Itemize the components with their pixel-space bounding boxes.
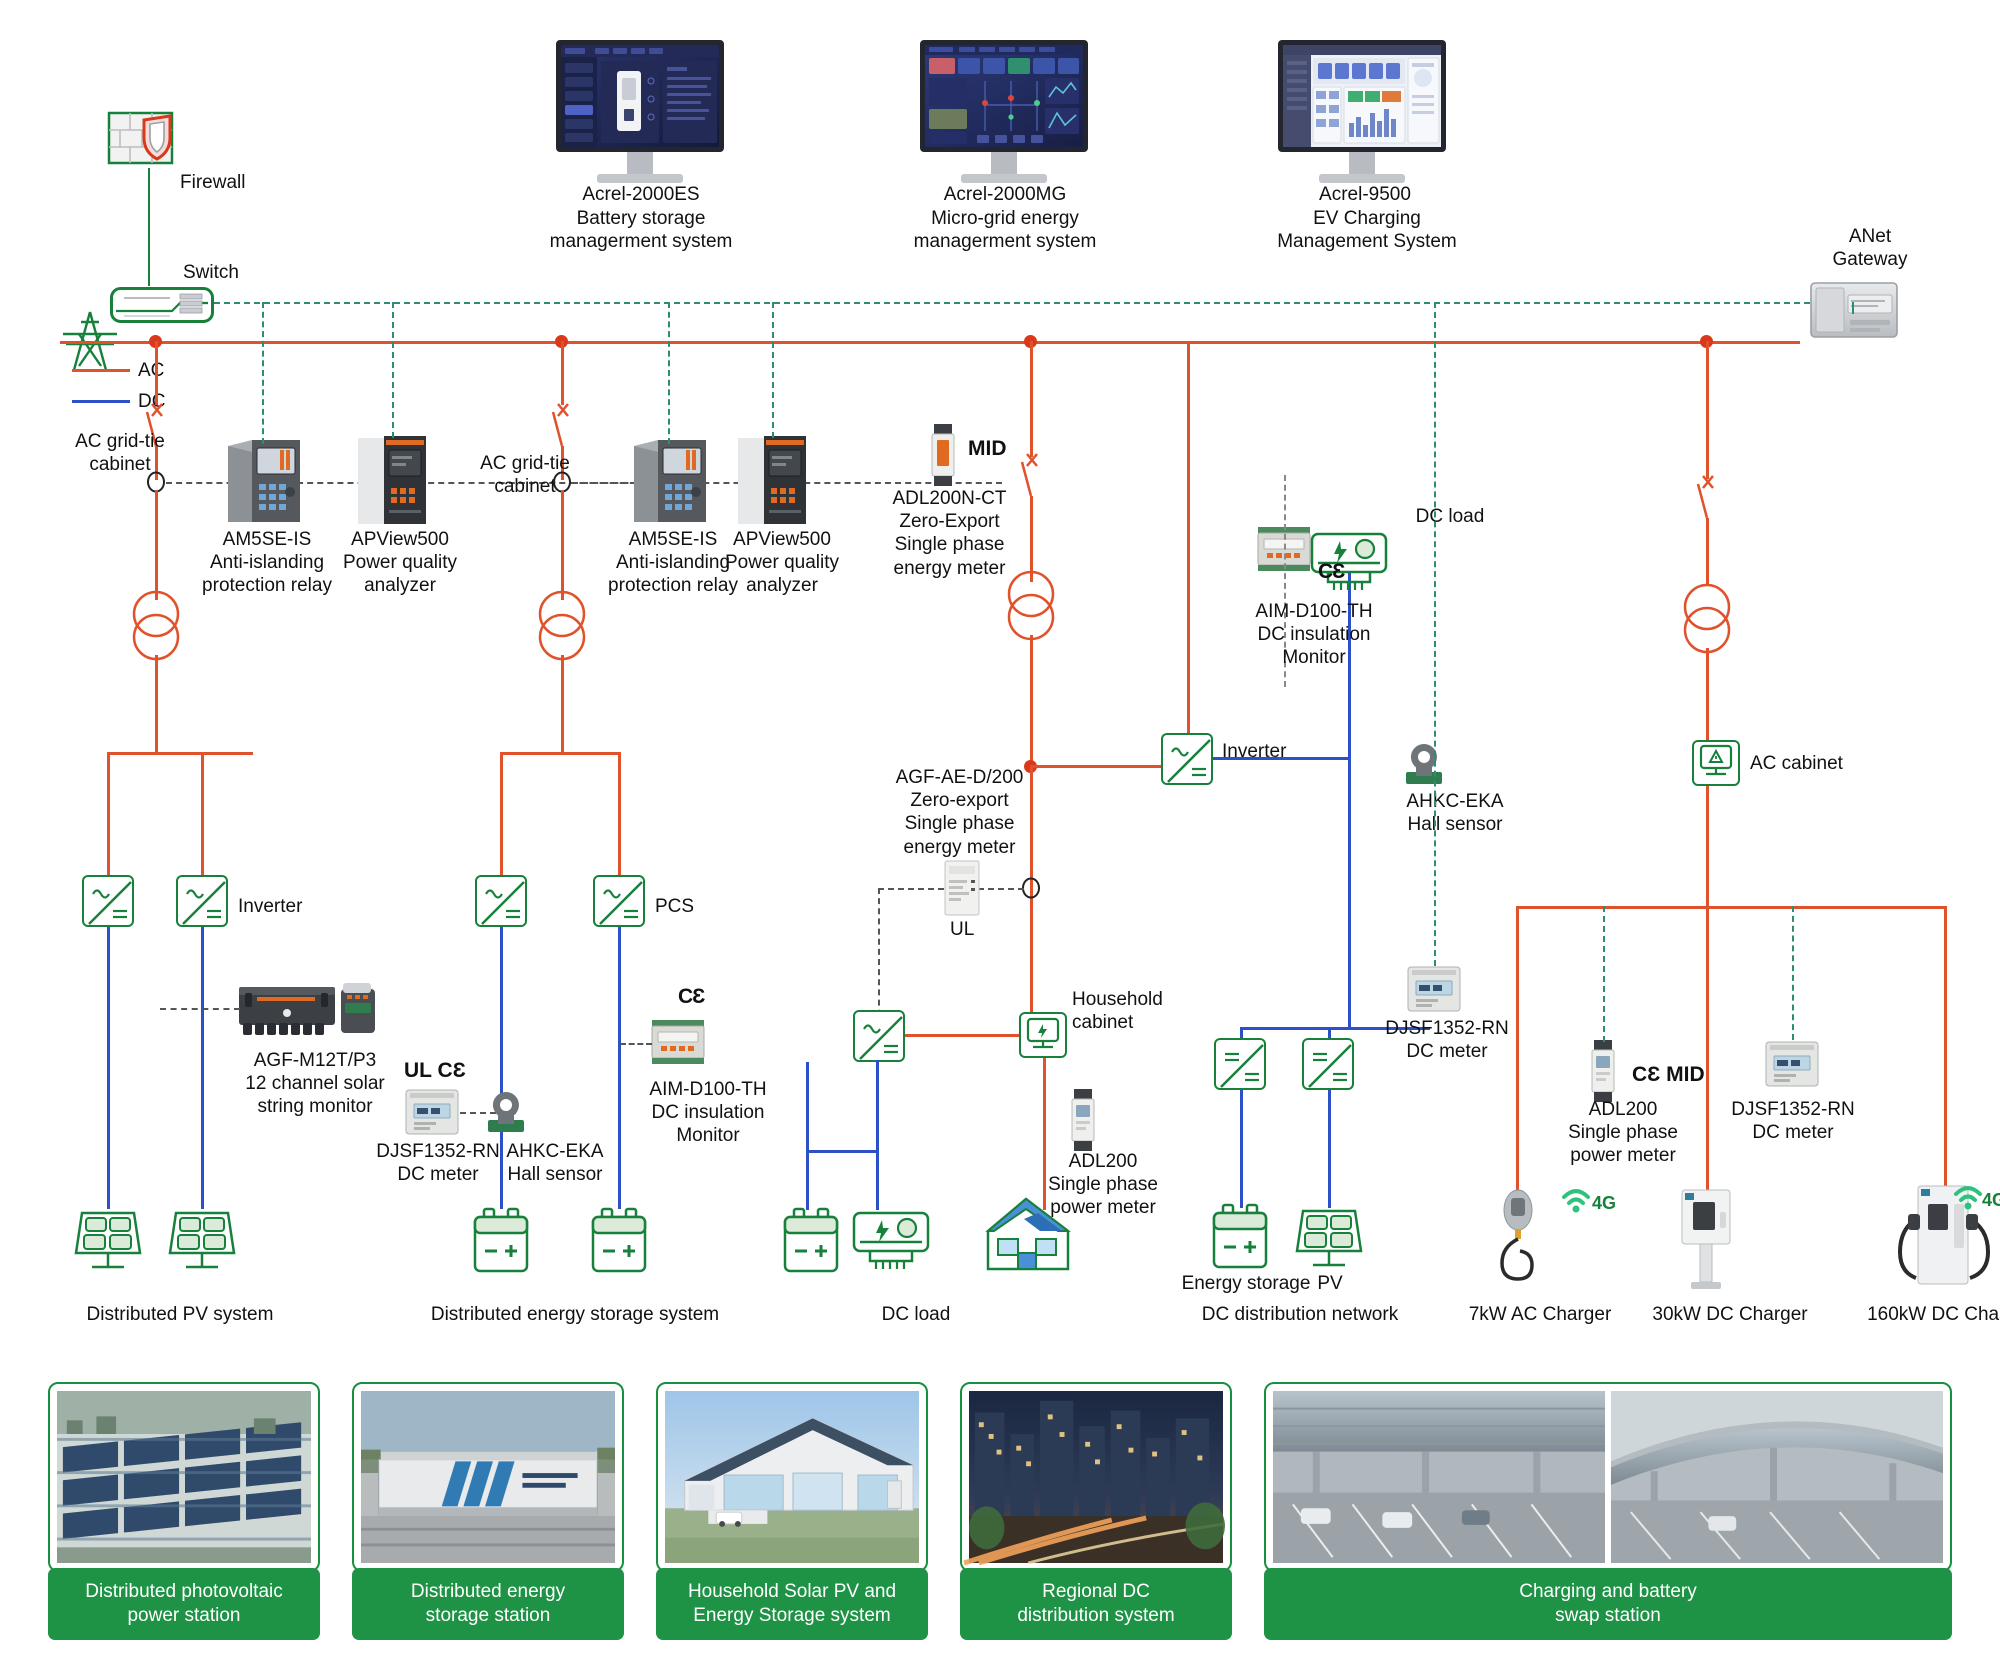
comm-trunk-line (214, 302, 1810, 304)
system-name-1: Acrel-2000MG (880, 183, 1130, 206)
charger-160kw-label: 160kW DC Charger (1840, 1303, 2000, 1326)
gallery-photo-0 (48, 1382, 320, 1572)
branch2-drop-d (561, 655, 564, 753)
apview500-1-label: APView500 Power quality analyzer (330, 528, 470, 598)
gallery-photo-2 (656, 1382, 928, 1572)
ac-bus-trunk (60, 341, 1800, 344)
adl200-ev-comm (1603, 906, 1605, 1042)
aim-d100-th-device-mid (650, 1018, 706, 1066)
inverter-left-label: Inverter (238, 895, 358, 918)
branch2-split-bus (500, 752, 620, 755)
charger-7kw-icon (1490, 1188, 1546, 1288)
djsf1352-rn-ev-label: DJSF1352-RN DC meter (1718, 1098, 1868, 1144)
pv2-dc-line (201, 927, 204, 1209)
agf-m12t-label: AGF-M12T/P3 12 channel solar string moni… (225, 1049, 405, 1119)
diagram-canvas: Firewall Switch ANet Gateway (0, 0, 2000, 1667)
firewall-switch-link (148, 168, 150, 286)
dcdist-dc-down (1348, 757, 1351, 1029)
system-desc-1: Micro-grid energy managerment system (850, 207, 1160, 253)
pv1-dc-line (107, 927, 110, 1209)
pv-system-label: Distributed PV system (50, 1303, 310, 1326)
household-cabinet-icon (1019, 1012, 1067, 1058)
ac-cabinet-icon (1692, 740, 1740, 786)
system-name-2: Acrel-9500 (1240, 183, 1490, 206)
am5se-is-1-label: AM5SE-IS Anti-islanding protection relay (192, 528, 342, 598)
breaker-2-icon (546, 400, 586, 458)
dcdc-pv-out (1328, 1090, 1331, 1208)
djsf-ev-comm (1792, 906, 1794, 1040)
dc-distribution-label: DC distribution network (1170, 1303, 1430, 1326)
dcdist-branch-b (1328, 1027, 1331, 1038)
network-switch-icon (110, 287, 214, 323)
branch5-drop-b (1706, 518, 1709, 586)
ul-meter-device (944, 860, 980, 916)
system-desc-0: Battery storage managerment system (486, 207, 796, 253)
ac-cabinet-label: AC cabinet (1750, 752, 1890, 775)
monitor-acrel-2000es (556, 40, 724, 183)
aim-d100-th-mid-label: AIM-D100-TH DC insulation Monitor (618, 1078, 798, 1148)
agf-m12t-device (237, 979, 377, 1041)
ahkc-eka-hall-sensor-left (486, 1090, 526, 1134)
ahkc-eka-left-label: AHKC-EKA Hall sensor (490, 1140, 620, 1186)
household-inv-ac (905, 1034, 1019, 1037)
gallery-caption-1: Distributed energy storage station (352, 1568, 624, 1640)
djsf-right-comm (1434, 302, 1436, 966)
djsf1352-rn-left-label: DJSF1352-RN DC meter (368, 1140, 508, 1186)
household-dc-1 (806, 1062, 809, 1210)
pcs-2 (593, 875, 645, 927)
anet-gateway-label: ANet Gateway (1795, 225, 1945, 271)
firewall-icon (108, 112, 188, 172)
djsf1352-rn-device-left (404, 1088, 460, 1136)
transformer-3-icon (1005, 570, 1057, 642)
adl200n-ct-label: ADL200N-CT Zero-Export Single phase ener… (862, 487, 1037, 580)
gallery-caption-4: Charging and battery swap station (1264, 1568, 1952, 1640)
branch2-pcs1-feed (500, 752, 503, 877)
ce-mid-mark-ev: CƐ MID (1632, 1063, 1705, 1087)
fourg-label-160kw: 4G (1982, 1190, 2000, 1212)
apview-2-comm (772, 302, 774, 438)
gallery-caption-0: Distributed photovoltaic power station (48, 1568, 320, 1640)
anet-gateway-icon (1810, 282, 1898, 338)
inverter-pv-1 (82, 875, 134, 927)
gateway-comm-stub (1852, 302, 1854, 314)
gallery-photo-4 (1264, 1382, 1952, 1572)
aim-d100-th-right-label: AIM-D100-TH DC insulation Monitor (1224, 600, 1404, 670)
agf-ae-d200-label: AGF-AE-D/200 Zero-export Single phase en… (872, 766, 1047, 859)
apview500-device-2 (738, 436, 806, 524)
house-icon (980, 1195, 1074, 1273)
adl200-ev-device (1590, 1040, 1616, 1102)
adl200-ev-label: ADL200 Single phase power meter (1538, 1098, 1708, 1168)
adl200-device (1070, 1089, 1096, 1151)
system-name-0: Acrel-2000ES (516, 183, 766, 206)
am5se-1-comm (262, 302, 264, 444)
branch2-drop-c (561, 490, 564, 600)
household-dc-bridge (806, 1150, 878, 1153)
pv-panel-1-icon (72, 1209, 144, 1273)
branch1-drop-d (155, 655, 158, 753)
transformer-2-icon (536, 590, 588, 662)
djsf1352-rn-ev-device (1764, 1040, 1820, 1088)
ev-feed-160kw (1944, 906, 1947, 1198)
dcdc-es-out (1240, 1090, 1243, 1208)
charger-7kw-label: 7kW AC Charger (1440, 1303, 1640, 1326)
energy-storage-label: Energy storage (1176, 1272, 1316, 1295)
ac-grid-tie-cabinet-2-label: AC grid-tie cabinet (455, 452, 595, 498)
branch3-drop-a (1030, 341, 1033, 457)
transformer-5-icon (1681, 583, 1733, 655)
branch1-drop-c (155, 490, 158, 600)
pv-label: PV (1300, 1272, 1360, 1295)
ahkc-eka-right-label: AHKC-EKA Hall sensor (1380, 790, 1530, 836)
dcdist-dc-bus-top (1213, 757, 1350, 760)
gallery-caption-2: Household Solar PV and Energy Storage sy… (656, 1568, 928, 1640)
monitor-acrel-9500 (1278, 40, 1446, 183)
ct-ring-3 (1021, 877, 1041, 899)
pv-panel-2-icon (166, 1209, 238, 1273)
battery-ess-2-icon (588, 1209, 650, 1273)
branch3-drop-c (1030, 635, 1033, 773)
branch2-drop-a (561, 341, 564, 405)
battery-dcload-icon (780, 1209, 842, 1273)
breaker-5-icon (1691, 472, 1731, 530)
branch5-drop-a (1706, 341, 1709, 479)
switch-label: Switch (183, 261, 303, 284)
djsf1352-rn-device-right (1406, 965, 1462, 1013)
battery-ess-1-icon (470, 1209, 532, 1273)
gallery-caption-3: Regional DC distribution system (960, 1568, 1232, 1640)
branch2-pcs2-feed (618, 752, 621, 877)
dcdc-energy-storage (1214, 1038, 1266, 1090)
ess-system-label: Distributed energy storage system (410, 1303, 740, 1326)
apview500-device-1 (358, 436, 426, 524)
branch4-drop (1187, 341, 1190, 733)
gallery-photo-1 (352, 1382, 624, 1572)
ul-meter-label: UL (950, 918, 1010, 941)
dc-load-top-label: DC load (1385, 505, 1515, 528)
ul-ce-mark-left: UL CƐ (404, 1059, 466, 1083)
transformer-1-icon (130, 590, 182, 662)
pcs-1 (475, 875, 527, 927)
household-cabinet-label: Household cabinet (1072, 988, 1202, 1034)
household-inverter (853, 1010, 905, 1062)
mid-mark-adl200n: MID (968, 437, 1007, 461)
branch3-to-inverter (1030, 765, 1164, 768)
system-desc-2: EV Charging Management System (1212, 207, 1522, 253)
charger-30kw-icon (1674, 1190, 1738, 1292)
aim-mid-comm (620, 1043, 652, 1045)
charger-30kw-label: 30kW DC Charger (1620, 1303, 1840, 1326)
ac-grid-tie-cabinet-1-label: AC grid-tie cabinet (50, 430, 190, 476)
legend-ac-label: AC (138, 359, 198, 382)
ce-mark-aim-right: CƐ (1318, 560, 1344, 584)
am5se-2-comm (668, 302, 670, 444)
branch1-inv1-feed (107, 752, 110, 877)
ev-ac-feeder (1516, 906, 1946, 909)
ev-feed-7kw (1516, 906, 1519, 1198)
dcdist-branch-a (1240, 1027, 1243, 1038)
dcdc-pv (1302, 1038, 1354, 1090)
legend-dc-swatch (72, 400, 130, 403)
wifi-4g-icon-7kw (1560, 1181, 1596, 1217)
fourg-label-7kw: 4G (1592, 1193, 1642, 1215)
apview500-2-label: APView500 Power quality analyzer (712, 528, 852, 598)
agf-m12t-comm (160, 1008, 240, 1010)
gallery-photo-3 (960, 1382, 1232, 1572)
pcs-label: PCS (655, 895, 735, 918)
branch1-split-bus (107, 752, 253, 755)
am5se-is-device-2 (634, 440, 706, 522)
battery-dcdist-icon (1209, 1205, 1271, 1269)
djsf1352-rn-right-label: DJSF1352-RN DC meter (1372, 1017, 1522, 1063)
legend-ac-swatch (72, 369, 130, 372)
inverter-pv-2 (176, 875, 228, 927)
pv-panel-dcdist-icon (1293, 1207, 1365, 1271)
ahkc-eka-hall-sensor-right (1404, 742, 1444, 786)
apview-1-comm (392, 302, 394, 438)
adl200n-ct-device (930, 424, 956, 486)
firewall-label: Firewall (180, 171, 300, 194)
am5se-is-device-1 (228, 440, 300, 522)
inverter-mid-label: Inverter (1222, 740, 1342, 763)
monitor-acrel-2000mg (920, 40, 1088, 183)
branch1-inv2-feed (201, 752, 204, 877)
branch1-drop-a (155, 341, 158, 405)
dc-load-device-icon (852, 1211, 930, 1273)
ce-mark-aim-mid: CƐ (678, 985, 704, 1009)
inverter-dc-dist (1161, 733, 1213, 785)
dc-load-bottom-label: DC load (836, 1303, 996, 1326)
household-dc-stub (876, 1060, 879, 1152)
